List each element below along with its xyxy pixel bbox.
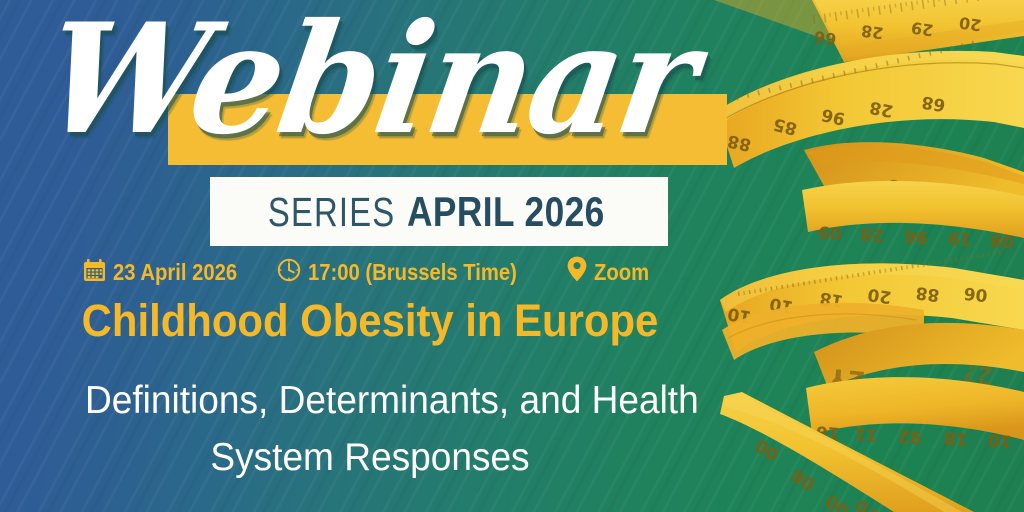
svg-text:20: 20 (958, 13, 983, 35)
svg-text:28: 28 (860, 21, 885, 43)
tape-segment-bottom: 16 11 92 18 10 (806, 374, 1024, 451)
svg-text:96: 96 (903, 225, 928, 247)
series-month-year: APRIL 2026 (407, 190, 605, 234)
svg-text:00: 00 (822, 490, 853, 512)
tape-twist-upper: 88 96 08 (804, 142, 1024, 212)
tape-segment-upper: 88 85 96 28 68 (716, 40, 1024, 168)
event-date: 23 April 2026 (113, 259, 237, 285)
svg-text:08: 08 (788, 464, 819, 494)
svg-text:16: 16 (815, 421, 840, 443)
webinar-script-title: Webinar (0, 0, 753, 159)
event-time: 17:00 (Brussels Time) (308, 259, 517, 285)
event-meta-row: 23 April 2026 17:00 (Brussels Time) (0, 255, 740, 289)
calendar-icon (83, 258, 106, 287)
tape-segment-middle: 09 28 96 19 08 (802, 180, 1024, 251)
svg-text:68: 68 (920, 91, 947, 114)
tape-center-label: 2Y (826, 362, 867, 395)
meta-item-time: 17:00 (Brussels Time) (277, 258, 545, 287)
tape-segment-loop: 10 10 18 20 88 06 (720, 242, 1024, 360)
svg-text:29: 29 (910, 18, 935, 40)
meta-item-date: 23 April 2026 (83, 258, 254, 287)
svg-text:06: 06 (963, 283, 989, 305)
measuring-tape-svg: 66 28 29 20 88 85 96 28 68 (694, 0, 1024, 512)
svg-text:96: 96 (820, 104, 848, 129)
series-label: SERIES (268, 190, 396, 234)
subtitle-line-2: System Responses (85, 429, 655, 486)
svg-text:00: 00 (752, 434, 783, 464)
svg-text:96: 96 (931, 181, 957, 203)
svg-text:10: 10 (768, 293, 795, 317)
event-platform: Zoom (594, 259, 649, 285)
svg-text:08: 08 (989, 229, 1014, 251)
svg-text:11: 11 (853, 423, 878, 445)
webinar-banner: 66 28 29 20 88 85 96 28 68 (0, 0, 1024, 512)
svg-text:08: 08 (977, 185, 1003, 207)
measuring-tape-artwork: 66 28 29 20 88 85 96 28 68 (694, 0, 1024, 512)
svg-text:28: 28 (859, 223, 884, 245)
svg-text:70: 70 (852, 494, 883, 512)
banner-content: Webinar SERIES APRIL 2026 (0, 0, 740, 512)
svg-text:20: 20 (866, 284, 892, 307)
svg-text:92: 92 (897, 425, 922, 447)
page-subtitle: Definitions, Determinants, and Health Sy… (85, 372, 655, 486)
svg-text:09: 09 (817, 221, 842, 243)
series-date-box: SERIES APRIL 2026 (210, 177, 668, 246)
clock-icon (277, 258, 301, 287)
tape-twist-center: 2Y 2? (814, 323, 1024, 395)
svg-text:66: 66 (813, 27, 838, 49)
svg-text:85: 85 (771, 113, 799, 138)
svg-text:19: 19 (947, 227, 972, 249)
tape-segment-tail: 00 08 00 70 (720, 392, 974, 512)
svg-text:10: 10 (987, 429, 1012, 451)
location-pin-icon (567, 256, 587, 288)
svg-text:2?: 2? (962, 359, 995, 390)
svg-text:28: 28 (868, 97, 895, 121)
subtitle-line-1: Definitions, Determinants, and Health (85, 372, 655, 429)
meta-item-platform: Zoom (567, 256, 657, 288)
page-title: Childhood Obesity in Europe (26, 296, 714, 346)
svg-text:18: 18 (943, 427, 968, 449)
svg-text:18: 18 (818, 287, 845, 310)
svg-text:88: 88 (887, 175, 913, 197)
svg-text:88: 88 (915, 282, 941, 305)
